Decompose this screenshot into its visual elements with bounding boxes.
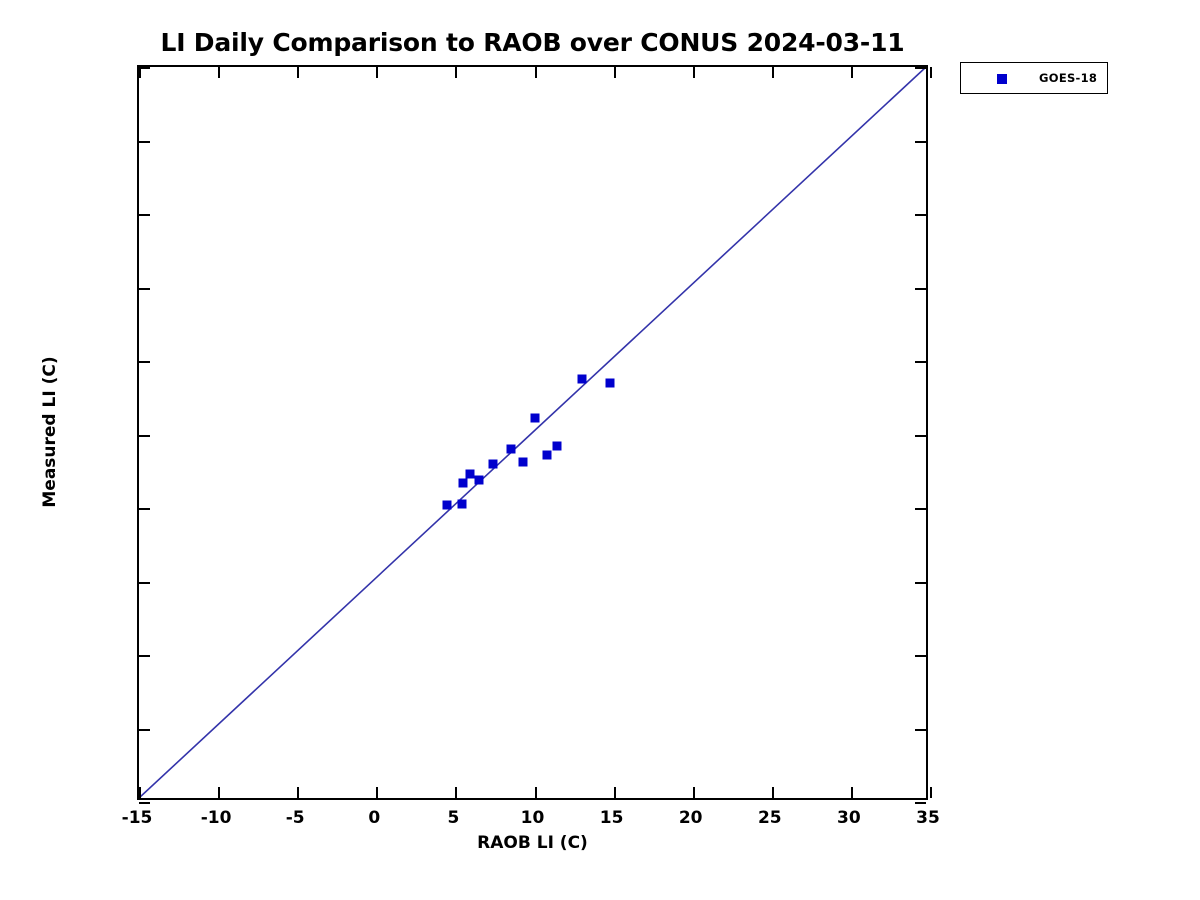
x-tick--5 [297, 787, 299, 798]
data-point [475, 476, 484, 485]
y-tick-25 [139, 214, 150, 216]
x-tick-35 [930, 67, 932, 78]
y-tick--15 [139, 802, 150, 804]
y-tick--5 [915, 655, 926, 657]
y-tick-0 [915, 582, 926, 584]
x-tick-label-0: 0 [368, 808, 380, 828]
x-tick-label-5: 5 [447, 808, 459, 828]
x-tick-5 [455, 787, 457, 798]
x-tick-5 [455, 67, 457, 78]
y-tick-0 [139, 582, 150, 584]
x-tick--10 [218, 67, 220, 78]
plot-inner [139, 67, 926, 798]
x-tick-15 [614, 787, 616, 798]
y-tick--15 [915, 802, 926, 804]
y-tick--10 [915, 729, 926, 731]
x-tick-25 [772, 67, 774, 78]
x-tick-label--5: -5 [286, 808, 305, 828]
data-point [459, 479, 468, 488]
scatter-chart: LI Daily Comparison to RAOB over CONUS 2… [0, 0, 1200, 900]
data-point [519, 458, 528, 467]
y-tick-15 [139, 361, 150, 363]
x-tick-20 [693, 787, 695, 798]
x-tick-label-30: 30 [837, 808, 861, 828]
x-tick-10 [535, 67, 537, 78]
x-tick-20 [693, 67, 695, 78]
x-axis-title: RAOB LI (C) [137, 833, 928, 853]
data-point [530, 414, 539, 423]
plot-area [137, 65, 928, 800]
x-tick--15 [139, 67, 141, 78]
y-tick-15 [915, 361, 926, 363]
y-axis-title: Measured LI (C) [40, 356, 60, 507]
x-tick--15 [139, 787, 141, 798]
y-tick--10 [139, 729, 150, 731]
y-tick-35 [915, 67, 926, 69]
x-tick-label-10: 10 [521, 808, 545, 828]
x-tick-35 [930, 787, 932, 798]
data-point [543, 451, 552, 460]
data-point [465, 470, 474, 479]
y-tick-30 [139, 141, 150, 143]
legend: GOES-18 [960, 62, 1108, 94]
y-tick-25 [915, 214, 926, 216]
x-tick-label-35: 35 [916, 808, 940, 828]
legend-swatch-goes-18 [997, 74, 1007, 84]
x-tick-25 [772, 787, 774, 798]
legend-label-goes-18: GOES-18 [1039, 71, 1097, 85]
y-tick-20 [139, 288, 150, 290]
x-tick-30 [851, 67, 853, 78]
x-tick-30 [851, 787, 853, 798]
y-tick-10 [139, 435, 150, 437]
x-tick-15 [614, 67, 616, 78]
x-tick-10 [535, 787, 537, 798]
data-point [606, 379, 615, 388]
x-tick-label-25: 25 [758, 808, 782, 828]
x-tick--10 [218, 787, 220, 798]
data-point [489, 459, 498, 468]
data-point [457, 499, 466, 508]
data-point [577, 374, 586, 383]
x-tick--5 [297, 67, 299, 78]
x-tick-label--15: -15 [122, 808, 153, 828]
y-tick-20 [915, 288, 926, 290]
chart-title: LI Daily Comparison to RAOB over CONUS 2… [0, 28, 1065, 57]
identity-reference-line [139, 67, 926, 798]
y-tick-5 [915, 508, 926, 510]
y-tick-5 [139, 508, 150, 510]
x-tick-label--10: -10 [201, 808, 232, 828]
x-tick-label-20: 20 [679, 808, 703, 828]
data-point [443, 501, 452, 510]
x-tick-label-15: 15 [600, 808, 624, 828]
y-tick-10 [915, 435, 926, 437]
x-tick-0 [376, 67, 378, 78]
data-point [506, 445, 515, 454]
y-tick-30 [915, 141, 926, 143]
data-point [552, 442, 561, 451]
x-tick-0 [376, 787, 378, 798]
y-tick--5 [139, 655, 150, 657]
